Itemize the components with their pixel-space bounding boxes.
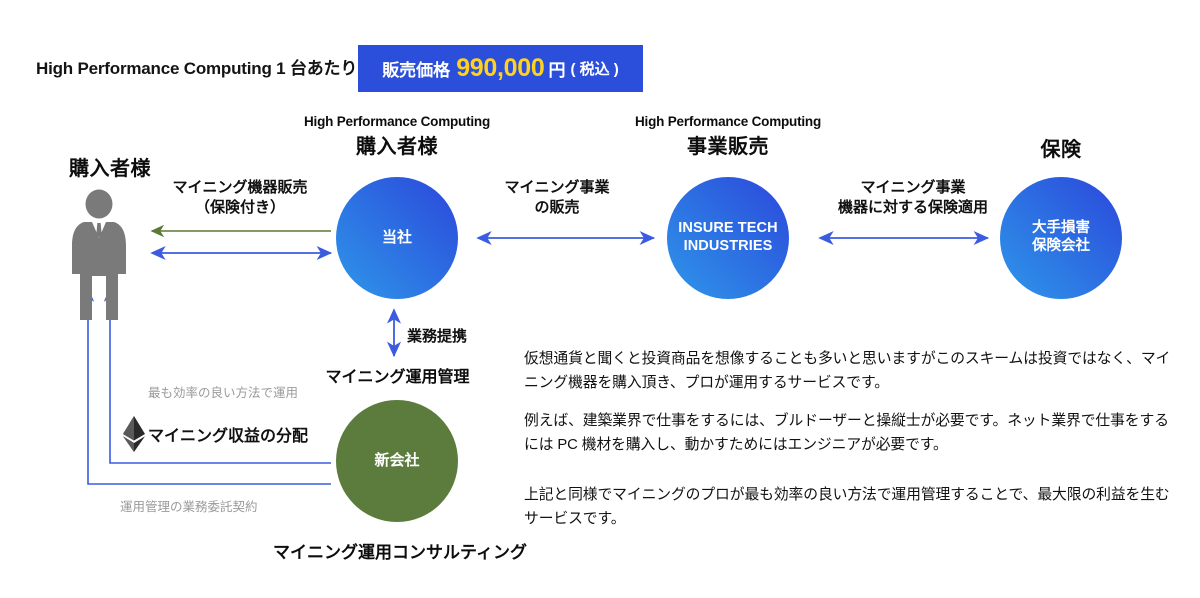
- label-alliance: 業務提携: [407, 325, 467, 346]
- label-equipment-sale: マイニング機器販売 （保険付き）: [150, 178, 330, 218]
- node-insure-tech[interactable]: INSURE TECH INDUSTRIES: [667, 177, 789, 299]
- node-company-label: 当社: [382, 229, 412, 247]
- node-company[interactable]: 当社: [336, 177, 458, 299]
- diagram-canvas: High Performance Computing 1 台あたり 販売価格 9…: [0, 0, 1200, 598]
- spec-label: High Performance Computing 1 台あたり: [36, 54, 357, 79]
- node-insure-tech-line1: INSURE TECH: [678, 220, 777, 236]
- caption-company-main: 購入者様: [277, 130, 517, 159]
- caption-company-sub: High Performance Computing: [277, 114, 517, 129]
- label-insurance-apply-line2: 機器に対する保険適用: [838, 199, 988, 216]
- label-efficient-operation: 最も効率の良い方法で運用: [148, 382, 298, 401]
- caption-mining-management: マイニング運用管理: [295, 363, 500, 387]
- label-mining-revenue: マイニング収益の分配: [148, 422, 308, 446]
- caption-insure-tech-main: 事業販売: [603, 130, 853, 159]
- label-equipment-sale-line2: （保険付き）: [195, 199, 285, 216]
- price-unit: 円: [548, 56, 565, 81]
- node-insurance-company-label: 大手損害 保険会社: [1032, 220, 1090, 255]
- node-insurance-company-line1: 大手損害: [1032, 220, 1090, 236]
- caption-mining-consulting: マイニング運用コンサルティング: [255, 538, 545, 563]
- label-equipment-sale-line1: マイニング機器販売: [172, 179, 307, 196]
- label-business-sale: マイニング事業 の販売: [477, 178, 637, 218]
- label-insurance-apply: マイニング事業 機器に対する保険適用: [818, 178, 1008, 218]
- label-business-sale-line2: の販売: [534, 199, 579, 216]
- price-badge: 販売価格 990,000 円 ( 税込 ): [358, 45, 643, 92]
- body-paragraph-1: 仮想通貨と聞くと投資商品を想像することも多いと思いますがこのスキームは投資ではな…: [524, 348, 1180, 396]
- node-insure-tech-label: INSURE TECH INDUSTRIES: [678, 220, 777, 255]
- label-insurance-apply-line1: マイニング事業: [860, 179, 965, 196]
- caption-buyer-person-text: 購入者様: [20, 152, 200, 181]
- price-prefix: 販売価格: [382, 56, 450, 81]
- caption-company: High Performance Computing 購入者様: [277, 114, 517, 159]
- caption-buyer-person: 購入者様: [20, 152, 200, 181]
- body-paragraph-3: 上記と同様でマイニングのプロが最も効率の良い方法で運用管理することで、最大限の利…: [524, 484, 1180, 532]
- price-tax-note: ( 税込 ): [570, 58, 618, 79]
- node-insurance-company[interactable]: 大手損害 保険会社: [1000, 177, 1122, 299]
- node-new-company-label: 新会社: [374, 452, 419, 470]
- label-outsourcing-contract: 運用管理の業務委託契約: [120, 496, 258, 515]
- node-insurance-company-line2: 保険会社: [1032, 238, 1090, 254]
- node-insure-tech-line2: INDUSTRIES: [684, 238, 773, 254]
- caption-insure-tech-sub: High Performance Computing: [603, 114, 853, 129]
- node-new-company[interactable]: 新会社: [336, 400, 458, 522]
- body-paragraph-2: 例えば、建築業界で仕事をするには、ブルドーザーと操縦士が必要です。ネット業界で仕…: [524, 410, 1180, 458]
- label-business-sale-line1: マイニング事業: [504, 179, 609, 196]
- price-number: 990,000: [456, 54, 544, 83]
- caption-insurance-main: 保険: [981, 133, 1141, 162]
- caption-insure-tech: High Performance Computing 事業販売: [603, 114, 853, 159]
- caption-insurance: 保険: [981, 133, 1141, 162]
